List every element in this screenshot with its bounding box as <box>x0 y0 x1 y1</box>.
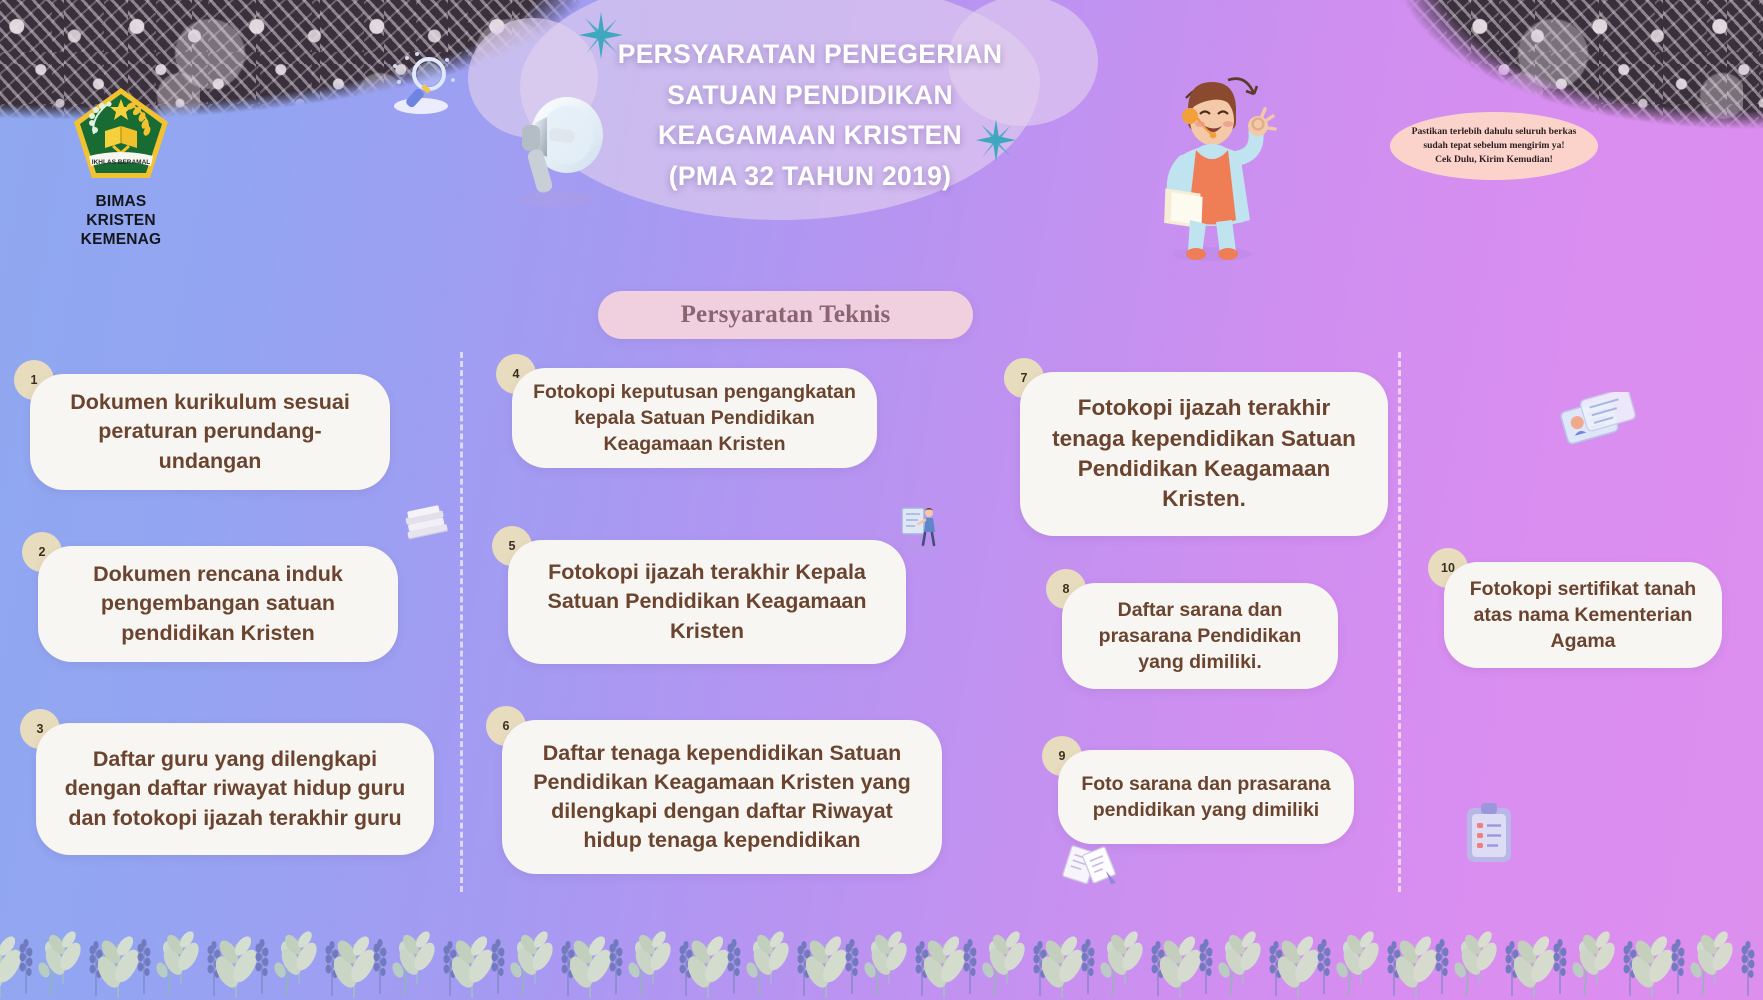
logo-caption: BIMAS KRISTEN KEMENAG <box>62 193 180 250</box>
bubble-line-1: Pastikan terlebih dahulu seluruh berkas <box>1412 126 1577 137</box>
requirement-card-3[interactable]: 3 Daftar guru yang dilengkapi dengan daf… <box>36 723 434 855</box>
section-title-pill: Persyaratan Teknis <box>598 291 973 339</box>
requirement-card-1[interactable]: 1 Dokumen kurikulum sesuai peraturan per… <box>30 374 390 490</box>
magnifier-icon <box>383 50 457 118</box>
bubble-line-2: sudah tepat sebelum mengirim ya! <box>1423 140 1564 151</box>
requirement-text-4: Fotokopi keputusan pengangkatan kepala S… <box>532 379 857 458</box>
requirement-text-1: Dokumen kurikulum sesuai peraturan perun… <box>50 388 370 475</box>
requirement-card-4[interactable]: 4 Fotokopi keputusan pengangkatan kepala… <box>512 368 877 468</box>
mascot-speech-bubble: Pastikan terlebih dahulu seluruh berkas … <box>1390 112 1598 180</box>
title-line-2: SATUAN PENDIDIKAN <box>600 75 1020 116</box>
bubble-line-3: Cek Dulu, Kirim Kemudian! <box>1435 154 1553 165</box>
requirement-text-7: Fotokopi ijazah terakhir tenaga kependid… <box>1040 393 1368 515</box>
title-line-3: KEAGAMAAN KRISTEN <box>600 115 1020 156</box>
requirement-badge-1: 1 <box>14 360 54 400</box>
requirement-text-2: Dokumen rencana induk pengembangan satua… <box>58 560 378 647</box>
logo-motto-text: IKHLAS BERAMAL <box>92 159 151 166</box>
column-divider-1 <box>460 352 463 892</box>
title-line-1: PERSYARATAN PENEGERIAN <box>600 34 1020 75</box>
logo-block: IKHLAS BERAMAL BIMAS KRISTEN KEMENAG <box>62 86 180 250</box>
requirement-text-6: Daftar tenaga kependidikan Satuan Pendid… <box>522 739 922 855</box>
infographic-canvas: IKHLAS BERAMAL BIMAS KRISTEN KEMENAG PER… <box>0 0 1763 1000</box>
requirement-badge-3: 3 <box>20 709 60 749</box>
requirement-text-8: Daftar sarana dan prasarana Pendidikan y… <box>1082 597 1318 676</box>
person-presenting-icon <box>898 502 940 552</box>
foliage-border <box>0 880 1763 1000</box>
requirement-badge-4: 4 <box>496 354 536 394</box>
mascot-illustration <box>1150 58 1290 263</box>
requirement-badge-10: 10 <box>1428 548 1468 588</box>
requirement-text-10: Fotokopi sertifikat tanah atas nama Keme… <box>1464 576 1702 655</box>
requirement-badge-2: 2 <box>22 532 62 572</box>
requirement-card-8[interactable]: 8 Daftar sarana dan prasarana Pendidikan… <box>1062 583 1338 689</box>
requirement-text-3: Daftar guru yang dilengkapi dengan dafta… <box>56 745 414 832</box>
requirement-badge-7: 7 <box>1004 358 1044 398</box>
clipboard-icon <box>1462 800 1516 866</box>
books-stack-icon <box>400 500 452 548</box>
requirement-card-7[interactable]: 7 Fotokopi ijazah terakhir tenaga kepend… <box>1020 372 1388 536</box>
requirement-card-5[interactable]: 5 Fotokopi ijazah terakhir Kepala Satuan… <box>508 540 906 664</box>
section-title-text: Persyaratan Teknis <box>681 301 891 329</box>
title-line-4: (PMA 32 TAHUN 2019) <box>600 156 1020 197</box>
requirement-text-5: Fotokopi ijazah terakhir Kepala Satuan P… <box>528 558 886 645</box>
requirement-card-2[interactable]: 2 Dokumen rencana induk pengembangan sat… <box>38 546 398 662</box>
page-title: PERSYARATAN PENEGERIAN SATUAN PENDIDIKAN… <box>600 34 1020 196</box>
column-divider-2 <box>1398 352 1401 892</box>
requirement-badge-8: 8 <box>1046 569 1086 609</box>
batik-pattern-top-right <box>1343 0 1763 230</box>
requirement-card-10[interactable]: 10 Fotokopi sertifikat tanah atas nama K… <box>1444 562 1722 668</box>
kemenag-logo-icon: IKHLAS BERAMAL <box>71 86 171 182</box>
requirement-card-9[interactable]: 9 Foto sarana dan prasarana pendidikan y… <box>1058 750 1354 844</box>
requirement-card-6[interactable]: 6 Daftar tenaga kependidikan Satuan Pend… <box>502 720 942 874</box>
requirement-text-9: Foto sarana dan prasarana pendidikan yan… <box>1078 771 1334 824</box>
requirement-badge-6: 6 <box>486 706 526 746</box>
requirement-badge-9: 9 <box>1042 736 1082 776</box>
id-card-icon <box>1560 392 1642 452</box>
requirement-badge-5: 5 <box>492 526 532 566</box>
